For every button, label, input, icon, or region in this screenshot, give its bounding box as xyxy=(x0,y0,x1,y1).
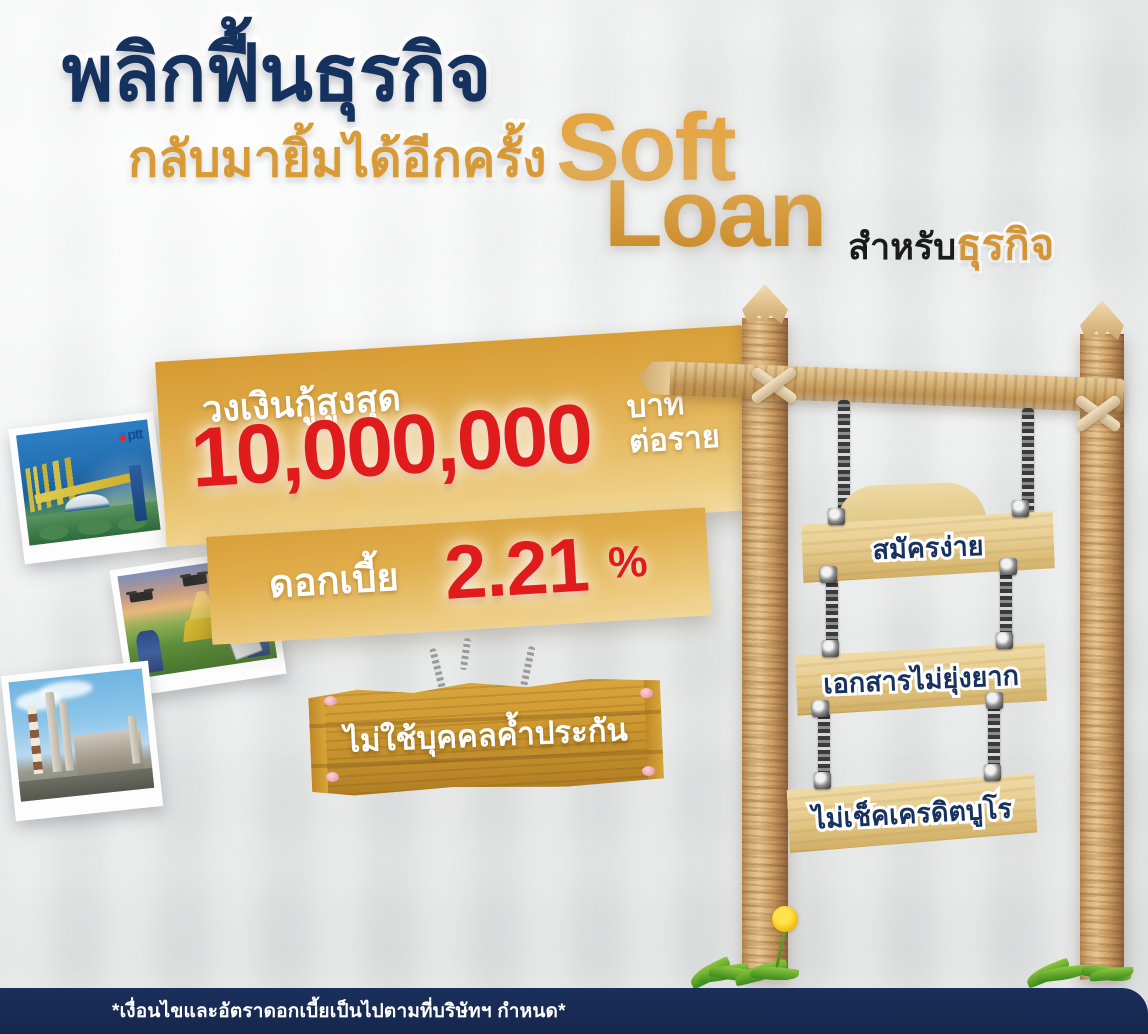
rope-lashing-right xyxy=(1072,386,1124,438)
interest-rate-label: ดอกเบี้ย xyxy=(267,546,400,615)
sign-bolt xyxy=(828,508,845,525)
flower-bloom xyxy=(772,906,798,932)
chain-left-low xyxy=(818,708,830,782)
loan-amount-unit-per: ต่อราย xyxy=(628,418,721,459)
chain-left-mid xyxy=(826,576,838,650)
photo-factory xyxy=(1,661,163,822)
sign-bolt xyxy=(812,700,829,717)
sign-bolt xyxy=(986,692,1003,709)
photo-factory-image xyxy=(8,668,154,801)
plank-nail xyxy=(326,772,339,782)
plank-nail xyxy=(640,688,653,698)
promo-banner: พลิกฟื้นธุรกิจ กลับมายิ้มได้อีกครั้ง Sof… xyxy=(0,0,1148,1034)
wooden-post-left xyxy=(742,318,788,980)
plank-nail xyxy=(324,696,337,706)
photo-ptt-image: ptt xyxy=(16,419,161,545)
sign-bolt xyxy=(1012,500,1029,517)
audience-target: ธุรกิจ xyxy=(956,212,1054,278)
headline-secondary: กลับมายิ้มได้อีกครั้ง xyxy=(128,134,547,184)
chimney-tall xyxy=(59,700,74,770)
plank-nail xyxy=(642,766,655,776)
ptt-droplet-icon xyxy=(118,431,126,442)
sign-bolt xyxy=(996,632,1013,649)
loan-amount-value: 10,000,000 xyxy=(188,391,593,500)
chimney-striped xyxy=(27,706,43,774)
sign-bolt xyxy=(1000,558,1017,575)
interest-rate-percent: % xyxy=(607,537,649,589)
headline-primary: พลิกฟื้นธุรกิจ xyxy=(62,34,490,114)
audience-prefix: สำหรับ xyxy=(848,218,956,275)
rope-lashing-left xyxy=(748,358,800,410)
drone-icon xyxy=(182,574,206,587)
footer-disclaimer-text: *เงื่อนไขและอัตราดอกเบี้ยเป็นไปตามที่บริ… xyxy=(112,996,566,1026)
benefit-plank-label: ไม่ใช้บุคคลค้ำประกัน xyxy=(308,673,664,798)
benefit-plank-sign: ไม่ใช้บุคคลค้ำประกัน xyxy=(308,673,664,798)
interest-rate-value: 2.21 xyxy=(442,516,591,622)
ptt-logo: ptt xyxy=(117,426,142,443)
footer-disclaimer-bar: *เงื่อนไขและอัตราดอกเบี้ยเป็นไปตามที่บริ… xyxy=(0,988,1148,1034)
drone-icon xyxy=(129,590,153,603)
product-name: Soft Loan xyxy=(556,106,825,257)
product-name-line2: Loan xyxy=(604,172,825,256)
sign-bolt xyxy=(984,764,1001,781)
photo-ptt-energy: ptt xyxy=(8,412,169,565)
sign-bolt xyxy=(814,772,831,789)
sign-bolt xyxy=(820,566,837,583)
sign-bolt xyxy=(822,640,839,657)
headline-block: พลิกฟื้นธุรกิจ กลับมายิ้มได้อีกครั้ง Sof… xyxy=(0,0,1148,280)
